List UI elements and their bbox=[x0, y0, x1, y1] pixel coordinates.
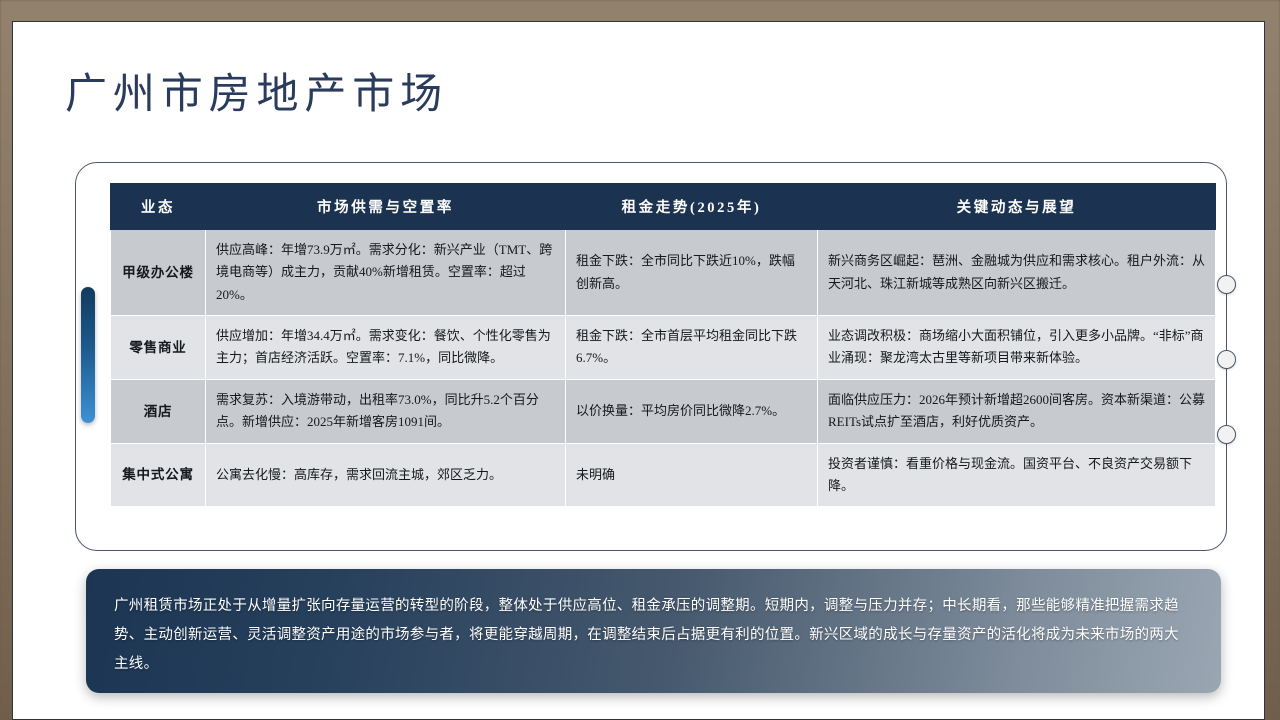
node-dot-icon-2 bbox=[1217, 350, 1236, 369]
node-dot-icon-1 bbox=[1217, 275, 1236, 294]
cell-supply: 需求复苏：入境游带动，出租率73.0%，同比升5.2个百分点。新增供应：2025… bbox=[206, 379, 566, 443]
cell-key: 面临供应压力：2026年预计新增超2600间客房。资本新渠道：公募REITs试点… bbox=[818, 379, 1216, 443]
slide-canvas: 广州市房地产市场 业态 市场供需与空置率 租金走势(2025年) 关键动态与展望… bbox=[12, 21, 1265, 720]
column-header-key-outlook: 关键动态与展望 bbox=[818, 184, 1216, 230]
cell-category: 集中式公寓 bbox=[111, 443, 206, 507]
cell-rent: 未明确 bbox=[566, 443, 818, 507]
cell-rent: 租金下跌：全市首层平均租金同比下跌6.7%。 bbox=[566, 316, 818, 380]
page-title: 广州市房地产市场 bbox=[65, 60, 448, 121]
column-header-rent-trend: 租金走势(2025年) bbox=[566, 184, 818, 230]
table-row: 集中式公寓 公寓去化慢：高库存，需求回流主城，郊区乏力。 未明确 投资者谨慎：看… bbox=[111, 443, 1216, 507]
cell-key: 新兴商务区崛起：琶洲、金融城为供应和需求核心。租户外流：从天河北、珠江新城等成熟… bbox=[818, 230, 1216, 316]
cell-key: 业态调改积极：商场缩小大面积铺位，引入更多小品牌。“非标”商业涌现：聚龙湾太古里… bbox=[818, 316, 1216, 380]
table-row: 甲级办公楼 供应高峰：年增73.9万㎡。需求分化：新兴产业（TMT、跨境电商等）… bbox=[111, 230, 1216, 316]
cell-supply: 公寓去化慢：高库存，需求回流主城，郊区乏力。 bbox=[206, 443, 566, 507]
table-row: 零售商业 供应增加：年增34.4万㎡。需求变化：餐饮、个性化零售为主力；首店经济… bbox=[111, 316, 1216, 380]
cell-supply: 供应高峰：年增73.9万㎡。需求分化：新兴产业（TMT、跨境电商等）成主力，贡献… bbox=[206, 230, 566, 316]
cell-category: 酒店 bbox=[111, 379, 206, 443]
market-table: 业态 市场供需与空置率 租金走势(2025年) 关键动态与展望 甲级办公楼 供应… bbox=[110, 183, 1216, 507]
cell-category: 零售商业 bbox=[111, 316, 206, 380]
cell-category: 甲级办公楼 bbox=[111, 230, 206, 316]
node-dot-icon-3 bbox=[1217, 425, 1236, 444]
table-row: 酒店 需求复苏：入境游带动，出租率73.0%，同比升5.2个百分点。新增供应：2… bbox=[111, 379, 1216, 443]
column-header-category: 业态 bbox=[111, 184, 206, 230]
summary-banner: 广州租赁市场正处于从增量扩张向存量运营的转型的阶段，整体处于供应高位、租金承压的… bbox=[86, 569, 1221, 693]
cell-key: 投资者谨慎：看重价格与现金流。国资平台、不良资产交易额下降。 bbox=[818, 443, 1216, 507]
cell-rent: 以价换量：平均房价同比微降2.7%。 bbox=[566, 379, 818, 443]
table-header-row: 业态 市场供需与空置率 租金走势(2025年) 关键动态与展望 bbox=[111, 184, 1216, 230]
column-header-supply: 市场供需与空置率 bbox=[206, 184, 566, 230]
cell-rent: 租金下跌：全市同比下跌近10%，跌幅创新高。 bbox=[566, 230, 818, 316]
cell-supply: 供应增加：年增34.4万㎡。需求变化：餐饮、个性化零售为主力；首店经济活跃。空置… bbox=[206, 316, 566, 380]
